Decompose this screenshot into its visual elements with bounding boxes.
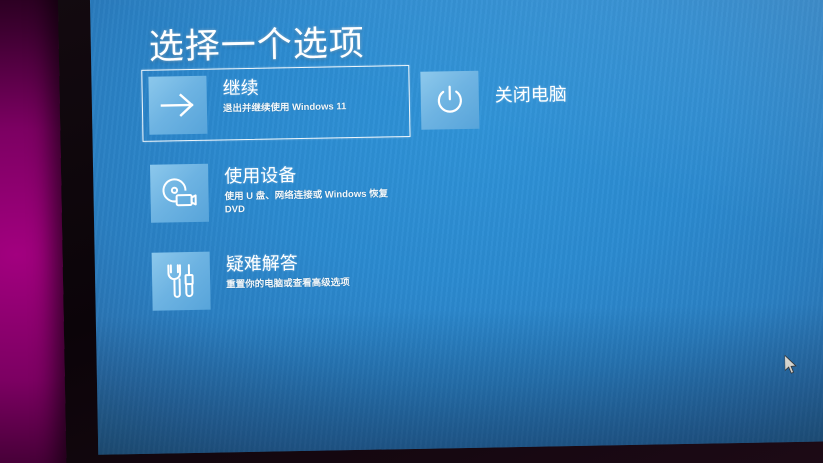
- photograph-of-monitor: 选择一个选项: [0, 0, 823, 463]
- option-continue[interactable]: 继续 退出并继续使用 Windows 11: [141, 65, 410, 142]
- power-icon: [433, 83, 468, 118]
- options-column-left: 继续 退出并继续使用 Windows 11: [141, 65, 414, 334]
- option-continue-title: 继续: [222, 76, 346, 99]
- option-shutdown-tile: [420, 71, 479, 130]
- option-troubleshoot-text: 疑难解答 重置你的电脑或查看高级选项: [226, 249, 350, 292]
- option-troubleshoot[interactable]: 疑难解答 重置你的电脑或查看高级选项: [144, 241, 413, 318]
- option-shutdown[interactable]: 关闭电脑: [413, 60, 664, 137]
- option-use-device-title: 使用设备: [224, 163, 404, 187]
- options-column-right: 关闭电脑: [413, 60, 665, 153]
- page-title: 选择一个选项: [148, 15, 365, 70]
- usb-disc-icon: [159, 176, 200, 211]
- option-use-device-tile: [150, 164, 209, 223]
- option-continue-desc: 退出并继续使用 Windows 11: [223, 101, 347, 116]
- windows-recovery-screen: 选择一个选项: [90, 0, 823, 455]
- option-use-device[interactable]: 使用设备 使用 U 盘、网络连接或 Windows 恢复 DVD: [143, 153, 412, 230]
- mouse-cursor-icon: [785, 355, 798, 375]
- wrench-screwdriver-icon: [163, 262, 200, 301]
- option-continue-tile: [148, 76, 207, 135]
- monitor-screen: 选择一个选项: [90, 0, 823, 455]
- option-use-device-desc: 使用 U 盘、网络连接或 Windows 恢复 DVD: [224, 188, 404, 217]
- option-shutdown-text: 关闭电脑: [494, 69, 567, 106]
- option-troubleshoot-title: 疑难解答: [226, 252, 350, 275]
- option-continue-text: 继续 退出并继续使用 Windows 11: [222, 73, 346, 116]
- option-troubleshoot-tile: [152, 252, 211, 311]
- option-shutdown-title: 关闭电脑: [494, 72, 567, 106]
- arrow-right-icon: [159, 90, 198, 121]
- option-troubleshoot-desc: 重置你的电脑或查看高级选项: [226, 277, 350, 292]
- option-use-device-text: 使用设备 使用 U 盘、网络连接或 Windows 恢复 DVD: [224, 160, 405, 217]
